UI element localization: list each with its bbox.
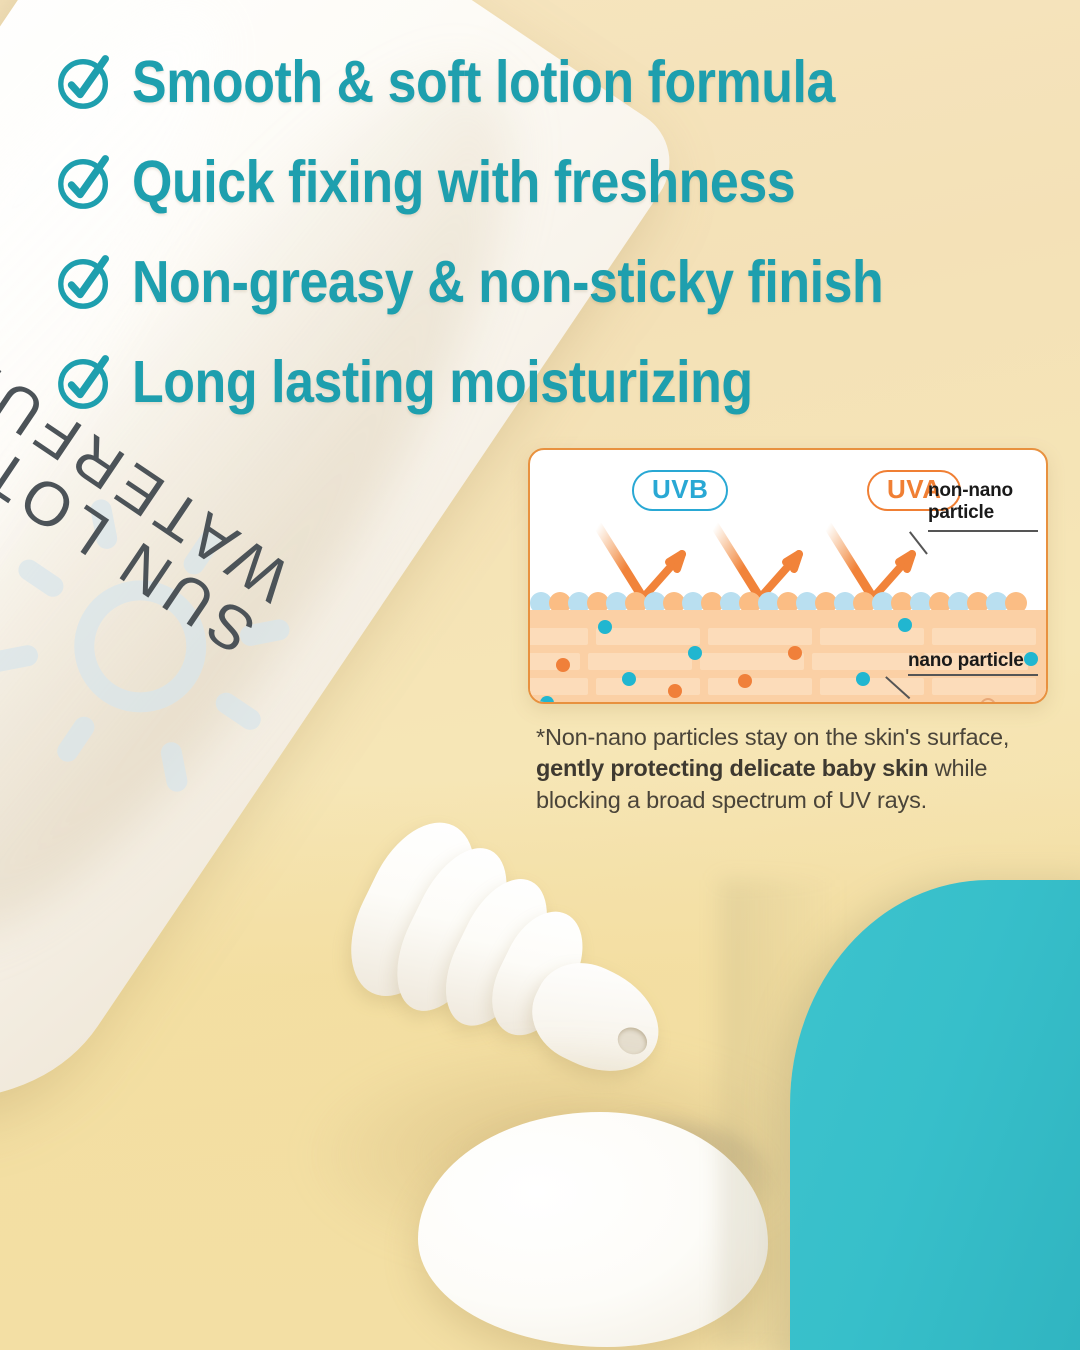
nano-label-underline bbox=[908, 674, 1038, 676]
check-circle-icon bbox=[54, 251, 116, 313]
nano-particle-dot bbox=[788, 646, 802, 660]
check-circle-icon bbox=[54, 351, 116, 413]
brick bbox=[528, 653, 580, 670]
feature-bullet: Smooth & soft lotion formula bbox=[54, 38, 1054, 126]
brick-row bbox=[530, 703, 1046, 704]
nano-particle-dot bbox=[898, 618, 912, 632]
nano-particle-dot bbox=[598, 620, 612, 634]
nano-particle-dot-hollow bbox=[980, 698, 996, 704]
feature-bullet: Non-greasy & non-sticky finish bbox=[54, 238, 1054, 326]
feature-bullet: Quick fixing with freshness bbox=[54, 138, 1054, 226]
nano-particle-dot bbox=[882, 702, 896, 704]
caption-bold: gently protecting delicate baby skin bbox=[536, 755, 928, 781]
brick-row bbox=[530, 678, 1046, 695]
brick bbox=[932, 678, 1036, 695]
caption-part-1: *Non-nano particles stay on the skin's s… bbox=[536, 724, 1009, 750]
brick bbox=[596, 628, 700, 645]
nano-particle-dot bbox=[1024, 652, 1038, 666]
nano-particle-dot bbox=[738, 674, 752, 688]
brick bbox=[820, 678, 924, 695]
brick bbox=[588, 703, 692, 704]
check-circle-icon bbox=[54, 51, 116, 113]
feature-bullet-label: Quick fixing with freshness bbox=[132, 148, 795, 216]
brick bbox=[924, 703, 1028, 704]
brick bbox=[596, 678, 700, 695]
brick bbox=[708, 678, 812, 695]
non-nano-label-line2: particle bbox=[928, 502, 1013, 524]
non-nano-label-underline bbox=[928, 530, 1038, 532]
uv-protection-diagram: UVB UVA bbox=[528, 448, 1048, 704]
brick bbox=[708, 628, 812, 645]
nano-particle-label: nano particle bbox=[908, 650, 1024, 672]
feature-bullet-label: Smooth & soft lotion formula bbox=[132, 48, 835, 116]
feature-bullet-list: Smooth & soft lotion formula Quick fixin… bbox=[54, 38, 1054, 438]
brick bbox=[588, 653, 692, 670]
nano-particle-dot bbox=[668, 684, 682, 698]
sun-ray bbox=[212, 689, 265, 734]
nano-particle-dot bbox=[622, 672, 636, 686]
nano-particle-dot bbox=[830, 702, 844, 704]
brick bbox=[812, 703, 916, 704]
nano-particle-dot bbox=[622, 702, 636, 704]
brick bbox=[528, 678, 588, 695]
brick bbox=[812, 653, 916, 670]
nano-particle-dot bbox=[720, 702, 734, 704]
nano-particle-dot bbox=[688, 646, 702, 660]
non-nano-label-line1: non-nano bbox=[928, 480, 1013, 502]
feature-bullet-label: Non-greasy & non-sticky finish bbox=[132, 248, 883, 316]
sun-ray bbox=[14, 555, 67, 600]
nano-particle-dot bbox=[856, 672, 870, 686]
check-circle-icon bbox=[54, 151, 116, 213]
nano-particle-dot bbox=[556, 658, 570, 672]
feature-bullet-label: Long lasting moisturizing bbox=[132, 348, 753, 416]
sun-ray bbox=[159, 740, 189, 793]
brick bbox=[528, 628, 588, 645]
sun-ray bbox=[0, 643, 40, 673]
brick bbox=[932, 628, 1036, 645]
product-marketing-image: SUN LOTION WATERFUL Smooth & soft lotion… bbox=[0, 0, 1080, 1350]
feature-bullet: Long lasting moisturizing bbox=[54, 338, 1054, 426]
sun-ray bbox=[53, 713, 98, 766]
non-nano-particle-label: non-nano particle bbox=[928, 480, 1013, 524]
brick bbox=[700, 703, 804, 704]
nano-particle-dot bbox=[540, 696, 554, 704]
diagram-caption: *Non-nano particles stay on the skin's s… bbox=[536, 722, 1036, 816]
